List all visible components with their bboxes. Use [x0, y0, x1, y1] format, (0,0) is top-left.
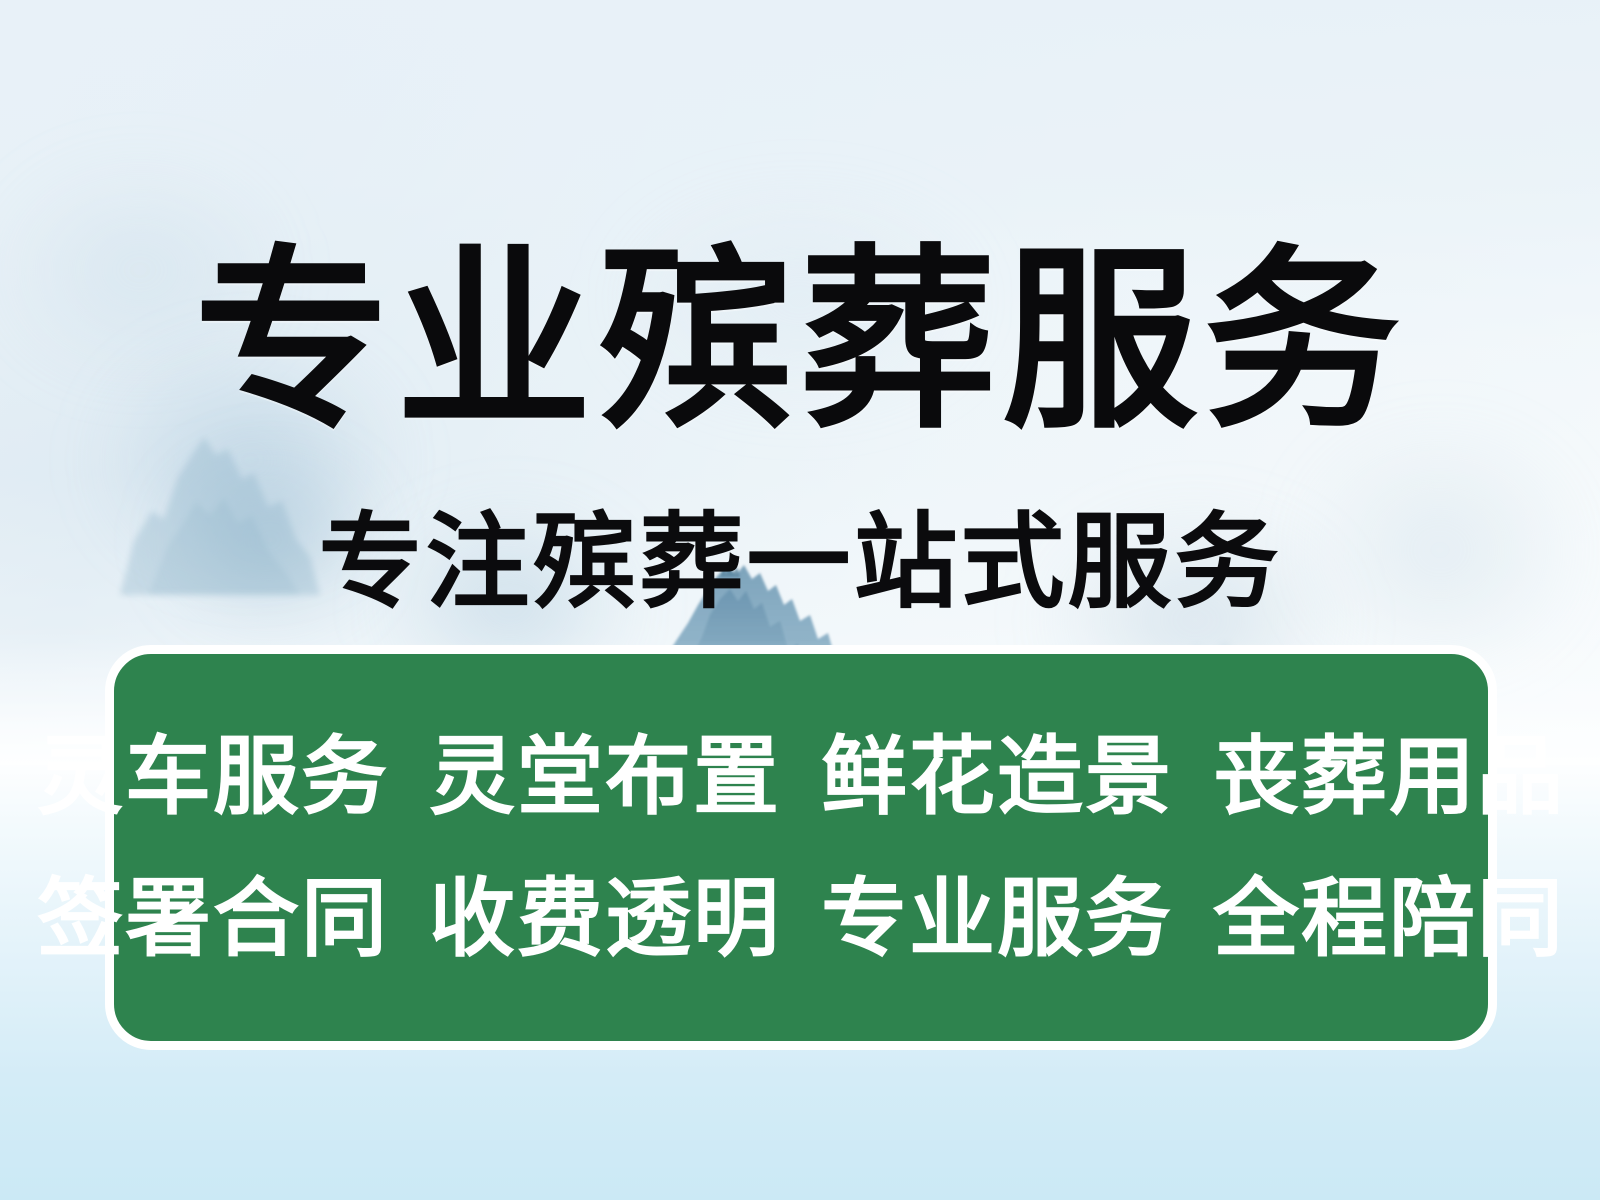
service-item-zhuanye: 专业服务: [821, 876, 1173, 962]
service-item-hetong: 签署合同: [37, 876, 389, 962]
services-panel: 灵车服务 灵堂布置 鲜花造景 丧葬用品 签署合同 收费透明 专业服务 全程陪同: [105, 645, 1497, 1050]
service-item-lingche: 灵车服务: [37, 734, 389, 820]
page-title: 专业殡葬服务: [0, 243, 1600, 439]
service-item-xianhua: 鲜花造景: [821, 734, 1173, 820]
poster-canvas: 专业殡葬服务 专注殡葬一站式服务 灵车服务 灵堂布置 鲜花造景 丧葬用品 签署合…: [0, 0, 1600, 1200]
service-item-sangzang: 丧葬用品: [1213, 734, 1565, 820]
page-subtitle: 专注殡葬一站式服务: [0, 510, 1600, 614]
service-item-peitong: 全程陪同: [1213, 876, 1565, 962]
service-item-shoufei: 收费透明: [429, 876, 781, 962]
services-row-1: 灵车服务 灵堂布置 鲜花造景 丧葬用品: [37, 734, 1565, 820]
poster-content: 专业殡葬服务 专注殡葬一站式服务 灵车服务 灵堂布置 鲜花造景 丧葬用品 签署合…: [0, 0, 1600, 1200]
services-row-2: 签署合同 收费透明 专业服务 全程陪同: [37, 876, 1565, 962]
service-item-lingtang: 灵堂布置: [429, 734, 781, 820]
